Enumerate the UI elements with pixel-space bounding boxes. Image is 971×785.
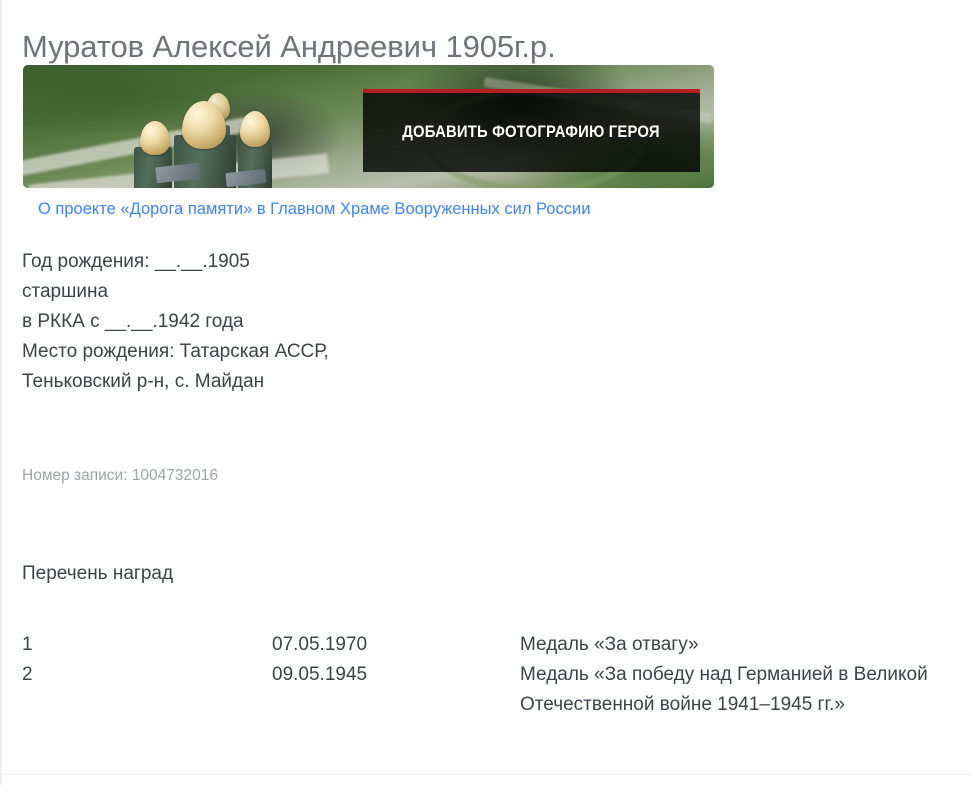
golden-dome-icon xyxy=(240,111,270,147)
record-number: Номер записи: 1004732016 xyxy=(22,467,218,485)
record-page: Муратов Алексей Андреевич 1905г.р. ДОБАВ xyxy=(0,0,971,785)
about-project-link[interactable]: О проекте «Дорога памяти» в Главном Храм… xyxy=(38,200,590,219)
awards-table: 1 07.05.1970 Медаль «За отвагу» 2 09.05.… xyxy=(22,630,957,720)
memory-road-banner[interactable]: ДОБАВИТЬ ФОТОГРАФИЮ ГЕРОЯ xyxy=(23,65,714,188)
page-title: Муратов Алексей Андреевич 1905г.р. xyxy=(22,29,556,65)
award-name: Медаль «За отвагу» xyxy=(520,630,957,660)
table-row: 2 09.05.1945 Медаль «За победу над Герма… xyxy=(22,660,957,720)
bio-line-birthplace-2: Теньковский р-н, с. Майдан xyxy=(22,367,622,397)
golden-dome-icon xyxy=(140,121,170,155)
awards-section-heading: Перечень наград xyxy=(22,563,173,585)
award-index: 1 xyxy=(22,630,272,660)
add-hero-photo-button[interactable]: ДОБАВИТЬ ФОТОГРАФИЮ ГЕРОЯ xyxy=(363,89,700,172)
bio-line-birthplace-1: Место рождения: Татарская АССР, xyxy=(22,337,622,367)
biography-block: Год рождения: __.__.1905 старшина в РККА… xyxy=(22,247,622,397)
cathedral-illustration xyxy=(118,91,308,188)
award-date: 07.05.1970 xyxy=(272,630,520,660)
award-name: Медаль «За победу над Германией в Велико… xyxy=(520,660,957,720)
bio-line-service: в РККА с __.__.1942 года xyxy=(22,307,622,337)
add-hero-photo-label: ДОБАВИТЬ ФОТОГРАФИЮ ГЕРОЯ xyxy=(403,123,660,142)
bio-line-rank: старшина xyxy=(22,277,622,307)
bio-line-birth-year: Год рождения: __.__.1905 xyxy=(22,247,622,277)
bottom-divider xyxy=(4,774,971,775)
award-index: 2 xyxy=(22,660,272,720)
table-row: 1 07.05.1970 Медаль «За отвагу» xyxy=(22,630,957,660)
award-date: 09.05.1945 xyxy=(272,660,520,720)
